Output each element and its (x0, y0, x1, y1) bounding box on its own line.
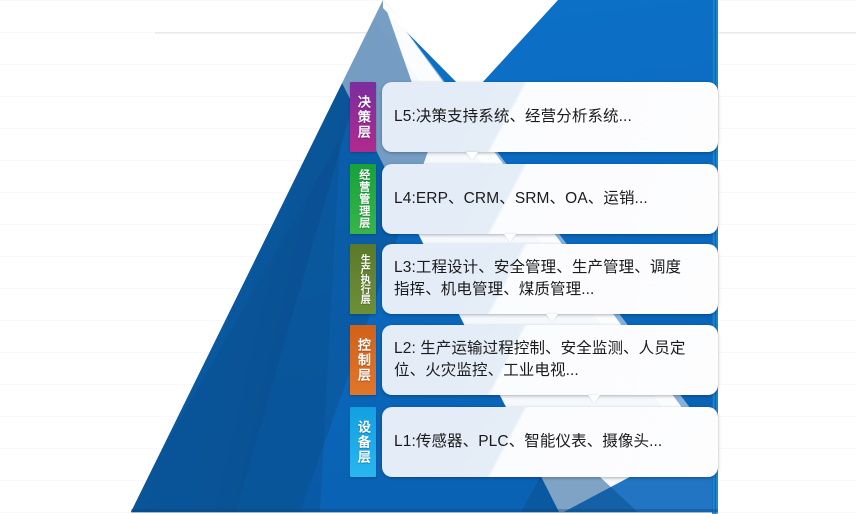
layer-row-l2[interactable]: 控制层 L2: 生产运输过程控制、安全监测、人员定 位、火灾监控、工业电视... (350, 325, 718, 395)
layer-card-l5[interactable]: L5:决策支持系统、经营分析系统... (382, 82, 718, 152)
layer-tab-l4[interactable]: 经营管理层 (350, 164, 376, 234)
layer-tab-l2[interactable]: 控制层 (350, 325, 376, 395)
flow-arrow-l3-l2 (546, 314, 558, 322)
layer-card-text-l5: L5:决策支持系统、经营分析系统... (394, 106, 632, 128)
layer-card-text-l1: L1:传感器、PLC、智能仪表、摄像头... (394, 431, 662, 453)
layer-tab-label-l5: 决策层 (356, 95, 370, 140)
flow-arrow-l2-l1 (588, 395, 600, 403)
layer-tab-label-l3: 生产执行层 (358, 254, 369, 304)
layer-tab-l3[interactable]: 生产执行层 (350, 244, 376, 314)
layer-card-l3[interactable]: L3:工程设计、安全管理、生产管理、调度 指挥、机电管理、煤质管理... (382, 244, 718, 314)
layer-card-l4[interactable]: L4:ERP、CRM、SRM、OA、运销... (382, 164, 718, 234)
diagram-canvas: 决策层 L5:决策支持系统、经营分析系统... 经营管理层 L4:ERP、CRM… (0, 0, 856, 514)
layer-row-l4[interactable]: 经营管理层 L4:ERP、CRM、SRM、OA、运销... (350, 164, 718, 234)
layer-tab-label-l2: 控制层 (356, 338, 370, 383)
layer-card-l1[interactable]: L1:传感器、PLC、智能仪表、摄像头... (382, 407, 718, 477)
flow-arrow-l5-l4 (466, 152, 478, 160)
layer-card-l2[interactable]: L2: 生产运输过程控制、安全监测、人员定 位、火灾监控、工业电视... (382, 325, 718, 395)
layer-rows: 决策层 L5:决策支持系统、经营分析系统... 经营管理层 L4:ERP、CRM… (0, 0, 856, 514)
layer-row-l5[interactable]: 决策层 L5:决策支持系统、经营分析系统... (350, 82, 718, 152)
layer-tab-l5[interactable]: 决策层 (350, 82, 376, 152)
layer-card-text-l2: L2: 生产运输过程控制、安全监测、人员定 位、火灾监控、工业电视... (394, 338, 685, 383)
layer-tab-l1[interactable]: 设备层 (350, 407, 376, 477)
layer-tab-label-l4: 经营管理层 (357, 169, 369, 229)
flow-arrow-l4-l3 (504, 234, 516, 242)
layer-row-l3[interactable]: 生产执行层 L3:工程设计、安全管理、生产管理、调度 指挥、机电管理、煤质管理.… (350, 244, 718, 314)
layer-card-text-l4: L4:ERP、CRM、SRM、OA、运销... (394, 188, 648, 210)
layer-row-l1[interactable]: 设备层 L1:传感器、PLC、智能仪表、摄像头... (350, 407, 718, 477)
layer-tab-label-l1: 设备层 (356, 420, 370, 465)
layer-card-text-l3: L3:工程设计、安全管理、生产管理、调度 指挥、机电管理、煤质管理... (394, 257, 681, 302)
